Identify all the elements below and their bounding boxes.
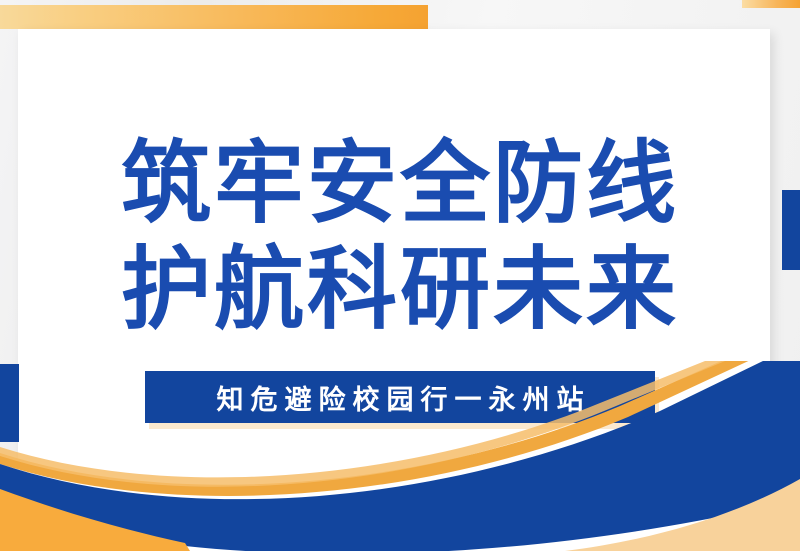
title-line-2: 护航科研未来 [0, 237, 800, 343]
poster-canvas: 筑牢安全防线 护航科研未来 知危避险校园行一永州站 [0, 0, 800, 551]
title-line-1: 筑牢安全防线 [0, 131, 800, 237]
top-orange-band [0, 5, 428, 29]
subtitle-text: 知危避险校园行一永州站 [210, 378, 591, 417]
title-block: 筑牢安全防线 护航科研未来 [0, 131, 800, 343]
subtitle-ribbon-bar: 知危避险校园行一永州站 [145, 371, 655, 423]
top-right-orange-tab [742, 0, 800, 8]
subtitle-ribbon: 知危避险校园行一永州站 [145, 371, 655, 423]
left-blue-accent-rect [0, 364, 19, 442]
